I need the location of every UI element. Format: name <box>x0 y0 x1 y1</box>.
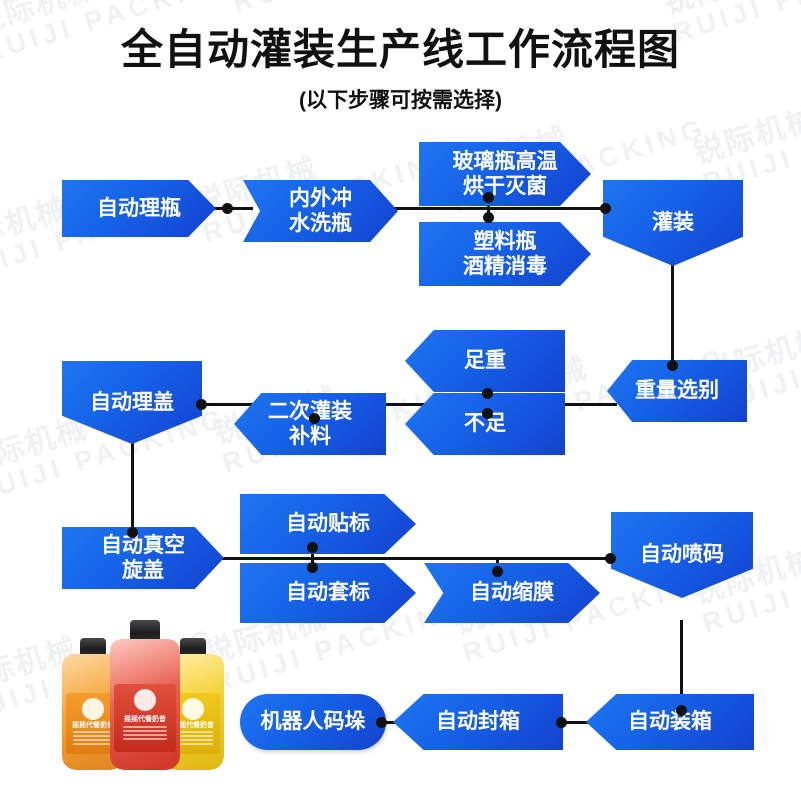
node-auto-sleeve-labeling[interactable]: 自动套标 <box>240 563 416 623</box>
connector-dot <box>376 717 387 728</box>
connector-dot <box>483 212 494 223</box>
connector-row3-main <box>214 557 624 560</box>
node-auto-carton-sealing[interactable]: 自动封箱 <box>393 694 563 750</box>
node-robot-palletizing[interactable]: 机器人码垛 <box>240 694 386 750</box>
connector-cap-sorting-to-vacuum-capping <box>131 434 134 534</box>
connector-dot <box>492 566 503 577</box>
connector-dot <box>127 527 138 538</box>
connector-row1-rinse-to-filling <box>393 207 625 210</box>
watermark-cn-text: 锐际机械 <box>660 0 801 20</box>
node-weight-sorting[interactable]: 重量选别 <box>607 360 747 422</box>
bottle-label-lines <box>73 731 112 747</box>
brand-mark-icon <box>82 698 104 720</box>
bottle-label: 摇摇代餐奶昔 <box>114 684 176 752</box>
connector-dot <box>600 203 611 214</box>
page-title: 全自动灌装生产线工作流程图 <box>0 26 801 74</box>
connector-dot <box>307 542 318 553</box>
connector-dot <box>483 192 494 203</box>
product-bottle-center: 摇摇代餐奶昔 <box>110 620 180 770</box>
connector-dot <box>605 553 616 564</box>
connector-dot <box>307 562 318 573</box>
node-glass-bottle-sterilize[interactable]: 玻璃瓶高温 烘干灭菌 <box>419 142 591 206</box>
title-block: 全自动灌装生产线工作流程图 (以下步骤可按需选择) <box>0 26 801 114</box>
connector-row1-sorting-to-rinse <box>213 207 253 210</box>
node-auto-labeling[interactable]: 自动贴标 <box>240 494 416 554</box>
node-auto-cap-sorting[interactable]: 自动理盖 <box>62 361 202 444</box>
node-auto-inkjet-coding[interactable]: 自动喷码 <box>611 512 753 598</box>
connector-dot <box>556 717 567 728</box>
node-filling[interactable]: 灌装 <box>603 180 743 266</box>
flowchart-canvas: 锐际机械 RUIJI PACKING 锐际机械 RUIJI PACKING 锐际… <box>0 0 801 807</box>
watermark-en-text: RUIJI PACKING <box>229 0 490 17</box>
page-subtitle: (以下步骤可按需选择) <box>0 84 801 114</box>
node-auto-case-packing[interactable]: 自动装箱 <box>586 694 754 750</box>
connector-dot <box>196 399 207 410</box>
connector-dot <box>309 413 320 424</box>
node-auto-bottle-sorting[interactable]: 自动理瓶 <box>62 180 216 237</box>
bottle-label-text: 摇摇代餐奶昔 <box>114 714 176 724</box>
connector-dot <box>482 388 493 399</box>
node-insufficient-weight[interactable]: 不足 <box>405 393 565 455</box>
connector-filling-to-weight-sorting <box>671 262 674 366</box>
connector-dot <box>482 408 493 419</box>
bottle-label-lines <box>123 726 167 744</box>
node-secondary-filling[interactable]: 二次灌装 补料 <box>234 393 386 455</box>
node-plastic-bottle-sterilize[interactable]: 塑料瓶 酒精消毒 <box>419 222 591 286</box>
node-sufficient-weight[interactable]: 足重 <box>405 330 565 392</box>
brand-mark-icon <box>182 698 204 720</box>
bottle-body: 摇摇代餐奶昔 <box>110 639 180 770</box>
node-auto-shrink-film[interactable]: 自动缩膜 <box>424 563 600 623</box>
node-inner-outer-rinse[interactable]: 内外冲 水洗瓶 <box>243 180 398 242</box>
node-auto-vacuum-capping[interactable]: 自动真空 旋盖 <box>62 527 224 589</box>
product-photo: 摇摇代餐奶昔 摇摇代餐奶昔 摇摇代餐奶昔 <box>62 612 228 770</box>
connector-dot <box>676 705 687 716</box>
brand-mark-icon <box>134 689 156 711</box>
connector-dot <box>222 203 233 214</box>
connector-dot <box>667 360 678 371</box>
watermark-tile: 锐际机械 RUIJI PACKING <box>220 0 490 17</box>
